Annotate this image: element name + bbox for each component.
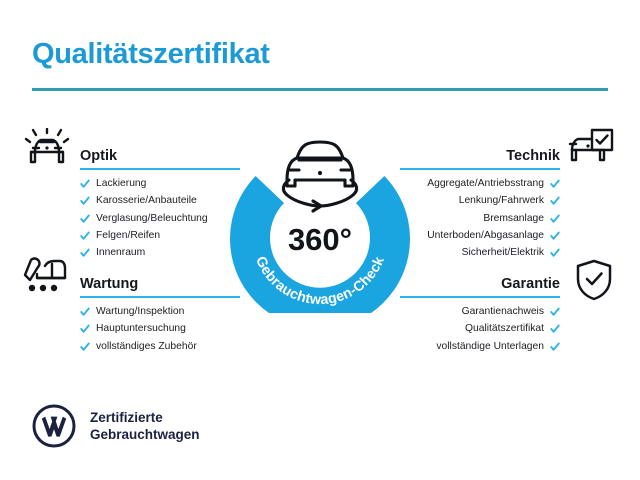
list-item: Lenkung/Fahrwerk [400, 196, 560, 206]
list-item: Unterboden/Abgasanlage [400, 231, 560, 241]
section-garantie: Garantie Garantienachweis Qualitätszerti… [400, 268, 560, 359]
shield-check-icon [572, 258, 616, 302]
page-title: Qualitätszertifikat [32, 38, 270, 71]
list-item: Karosserie/Anbauteile [80, 196, 240, 206]
list-item-label: Lackierung [96, 179, 146, 189]
list-item-label: Aggregate/Antriebsstrang [427, 179, 544, 189]
list-item: Wartung/Inspektion [80, 307, 240, 317]
list-item-label: Garantienachweis [462, 307, 544, 317]
list-item: Qualitätszertifikat [400, 324, 560, 334]
list-item: Innenraum [80, 248, 240, 258]
car-checkbox-icon [568, 128, 614, 170]
section-technik-list: Aggregate/Antriebsstrang Lenkung/Fahrwer… [400, 179, 560, 258]
list-item-label: Bremsanlage [483, 214, 544, 224]
car-service-wrench-icon [22, 256, 68, 298]
list-item-label: Karosserie/Anbauteile [96, 196, 197, 206]
list-item: Bremsanlage [400, 214, 560, 224]
footer-line-2: Gebrauchtwagen [90, 426, 200, 443]
footer-line-1: Zertifizierte [90, 409, 200, 426]
section-garantie-divider [400, 296, 560, 298]
section-optik-list: Lackierung Karosserie/Anbauteile Verglas… [80, 179, 240, 258]
check-icon [550, 324, 560, 334]
check-icon [550, 179, 560, 189]
section-technik-header: Technik [400, 140, 560, 170]
list-item: Sicherheit/Elektrik [400, 248, 560, 258]
volkswagen-logo-icon [32, 404, 76, 448]
footer-text: Zertifizierte Gebrauchtwagen [90, 409, 200, 444]
badge-center-label: 360° [288, 222, 352, 257]
section-garantie-title: Garantie [501, 276, 560, 292]
list-item-label: Hauptuntersuchung [96, 324, 186, 334]
check-icon [80, 324, 90, 334]
car-rotate-360-icon [283, 142, 356, 211]
section-technik: Technik Aggregate/Antriebsstrang Lenkung… [400, 140, 560, 265]
check-icon [550, 214, 560, 224]
check-icon [80, 214, 90, 224]
list-item-label: Felgen/Reifen [96, 231, 160, 241]
check-icon [80, 307, 90, 317]
list-item: vollständige Unterlagen [400, 342, 560, 352]
list-item: Felgen/Reifen [80, 231, 240, 241]
section-wartung-header: Wartung [80, 268, 240, 298]
list-item-label: Unterboden/Abgasanlage [427, 231, 544, 241]
check-icon [80, 196, 90, 206]
section-optik: Optik Lackierung Karosserie/Anbauteile [80, 140, 240, 265]
check-icon [80, 248, 90, 258]
car-shine-icon [24, 128, 70, 170]
section-garantie-list: Garantienachweis Qualitätszertifikat vol… [400, 307, 560, 352]
list-item: Aggregate/Antriebsstrang [400, 179, 560, 189]
section-garantie-header: Garantie [400, 268, 560, 298]
list-item-label: Wartung/Inspektion [96, 307, 184, 317]
footer-brand: Zertifizierte Gebrauchtwagen [32, 404, 200, 448]
section-optik-divider [80, 168, 240, 170]
list-item-label: Qualitätszertifikat [465, 324, 544, 334]
certificate-page: Qualitätszertifikat [0, 0, 640, 480]
list-item-label: vollständiges Zubehör [96, 342, 197, 352]
check-icon [550, 248, 560, 258]
section-wartung-list: Wartung/Inspektion Hauptuntersuchung vol… [80, 307, 240, 352]
check-icon [550, 342, 560, 352]
section-wartung-title: Wartung [80, 276, 138, 292]
list-item: vollständiges Zubehör [80, 342, 240, 352]
list-item-label: vollständige Unterlagen [436, 342, 544, 352]
list-item-label: Lenkung/Fahrwerk [459, 196, 544, 206]
list-item: Garantienachweis [400, 307, 560, 317]
badge-ring [230, 123, 410, 313]
section-wartung: Wartung Wartung/Inspektion Hauptuntersuc… [80, 268, 240, 359]
check-icon [550, 307, 560, 317]
list-item-label: Sicherheit/Elektrik [462, 248, 544, 258]
section-technik-title: Technik [506, 148, 560, 164]
section-wartung-divider [80, 296, 240, 298]
check-icon [550, 196, 560, 206]
list-item-label: Verglasung/Beleuchtung [96, 214, 208, 224]
badge-360-gebrauchtwagen-check: 360° Gebrauchtwagen-Check [225, 118, 415, 313]
list-item: Lackierung [80, 179, 240, 189]
list-item-label: Innenraum [96, 248, 145, 258]
check-icon [80, 342, 90, 352]
title-divider [32, 88, 608, 91]
section-technik-divider [400, 168, 560, 170]
list-item: Hauptuntersuchung [80, 324, 240, 334]
list-item: Verglasung/Beleuchtung [80, 214, 240, 224]
section-optik-header: Optik [80, 140, 240, 170]
check-icon [80, 231, 90, 241]
section-optik-title: Optik [80, 148, 117, 164]
check-icon [80, 179, 90, 189]
check-icon [550, 231, 560, 241]
